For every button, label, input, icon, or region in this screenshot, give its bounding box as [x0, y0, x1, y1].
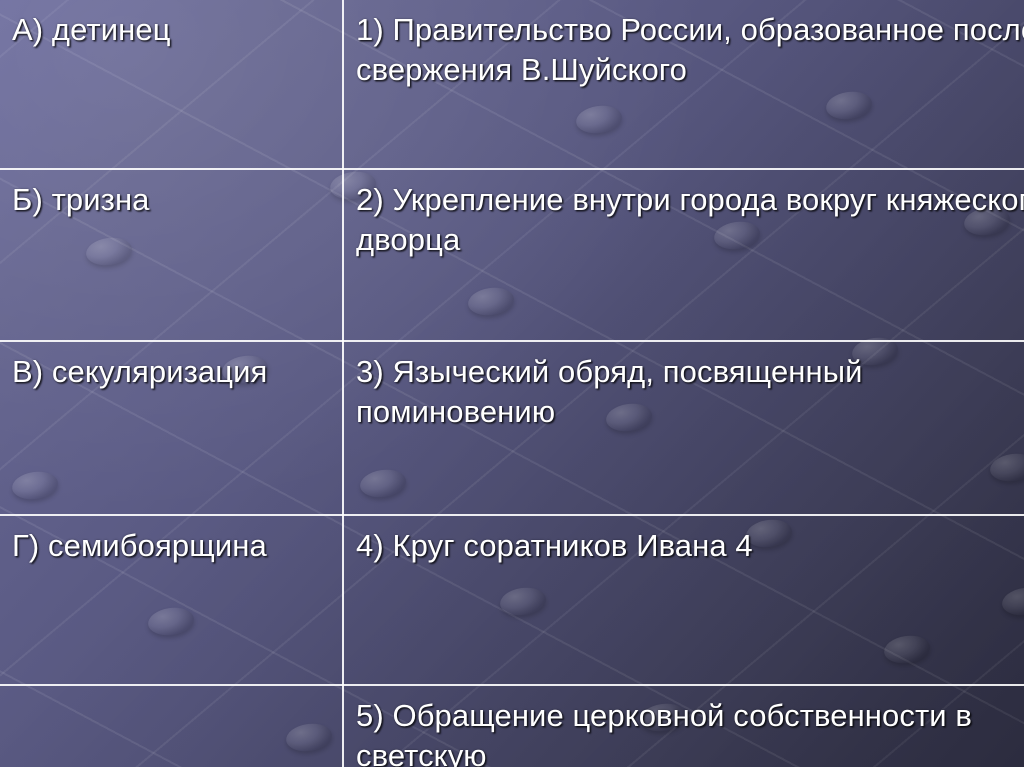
table-row: В) секуляризация 3) Языческий обряд, пос…: [0, 341, 1024, 515]
table-cell-definition: 2) Укрепление внутри города вокруг княже…: [343, 169, 1024, 341]
slide-canvas: А) детинец 1) Правительство России, обра…: [0, 0, 1024, 767]
table-cell-term: Г) семибоярщина: [0, 515, 343, 685]
table-cell-term-empty: [0, 685, 343, 767]
table-cell-term: Б) тризна: [0, 169, 343, 341]
table-cell-definition: 3) Языческий обряд, посвященный поминове…: [343, 341, 1024, 515]
definition-text: 2) Укрепление внутри города вокруг княже…: [356, 180, 1024, 261]
term-text: А) детинец: [12, 10, 328, 50]
table-cell-definition: 1) Правительство России, образованное по…: [343, 0, 1024, 169]
matching-table: А) детинец 1) Правительство России, обра…: [0, 0, 1024, 767]
table-row: А) детинец 1) Правительство России, обра…: [0, 0, 1024, 169]
term-text: В) секуляризация: [12, 352, 328, 392]
table-cell-definition: 5) Обращение церковной собственности в с…: [343, 685, 1024, 767]
table-cell-term: В) секуляризация: [0, 341, 343, 515]
table-row: Г) семибоярщина 4) Круг соратников Ивана…: [0, 515, 1024, 685]
matching-table-body: А) детинец 1) Правительство России, обра…: [0, 0, 1024, 767]
term-text: [12, 696, 328, 697]
definition-text: 1) Правительство России, образованное по…: [356, 10, 1024, 91]
table-cell-definition: 4) Круг соратников Ивана 4: [343, 515, 1024, 685]
definition-text: 3) Языческий обряд, посвященный поминове…: [356, 352, 1024, 433]
term-text: Г) семибоярщина: [12, 526, 328, 566]
definition-text: 5) Обращение церковной собственности в с…: [356, 696, 1024, 767]
table-row: 5) Обращение церковной собственности в с…: [0, 685, 1024, 767]
table-row: Б) тризна 2) Укрепление внутри города во…: [0, 169, 1024, 341]
definition-text: 4) Круг соратников Ивана 4: [356, 526, 1024, 566]
table-cell-term: А) детинец: [0, 0, 343, 169]
term-text: Б) тризна: [12, 180, 328, 220]
